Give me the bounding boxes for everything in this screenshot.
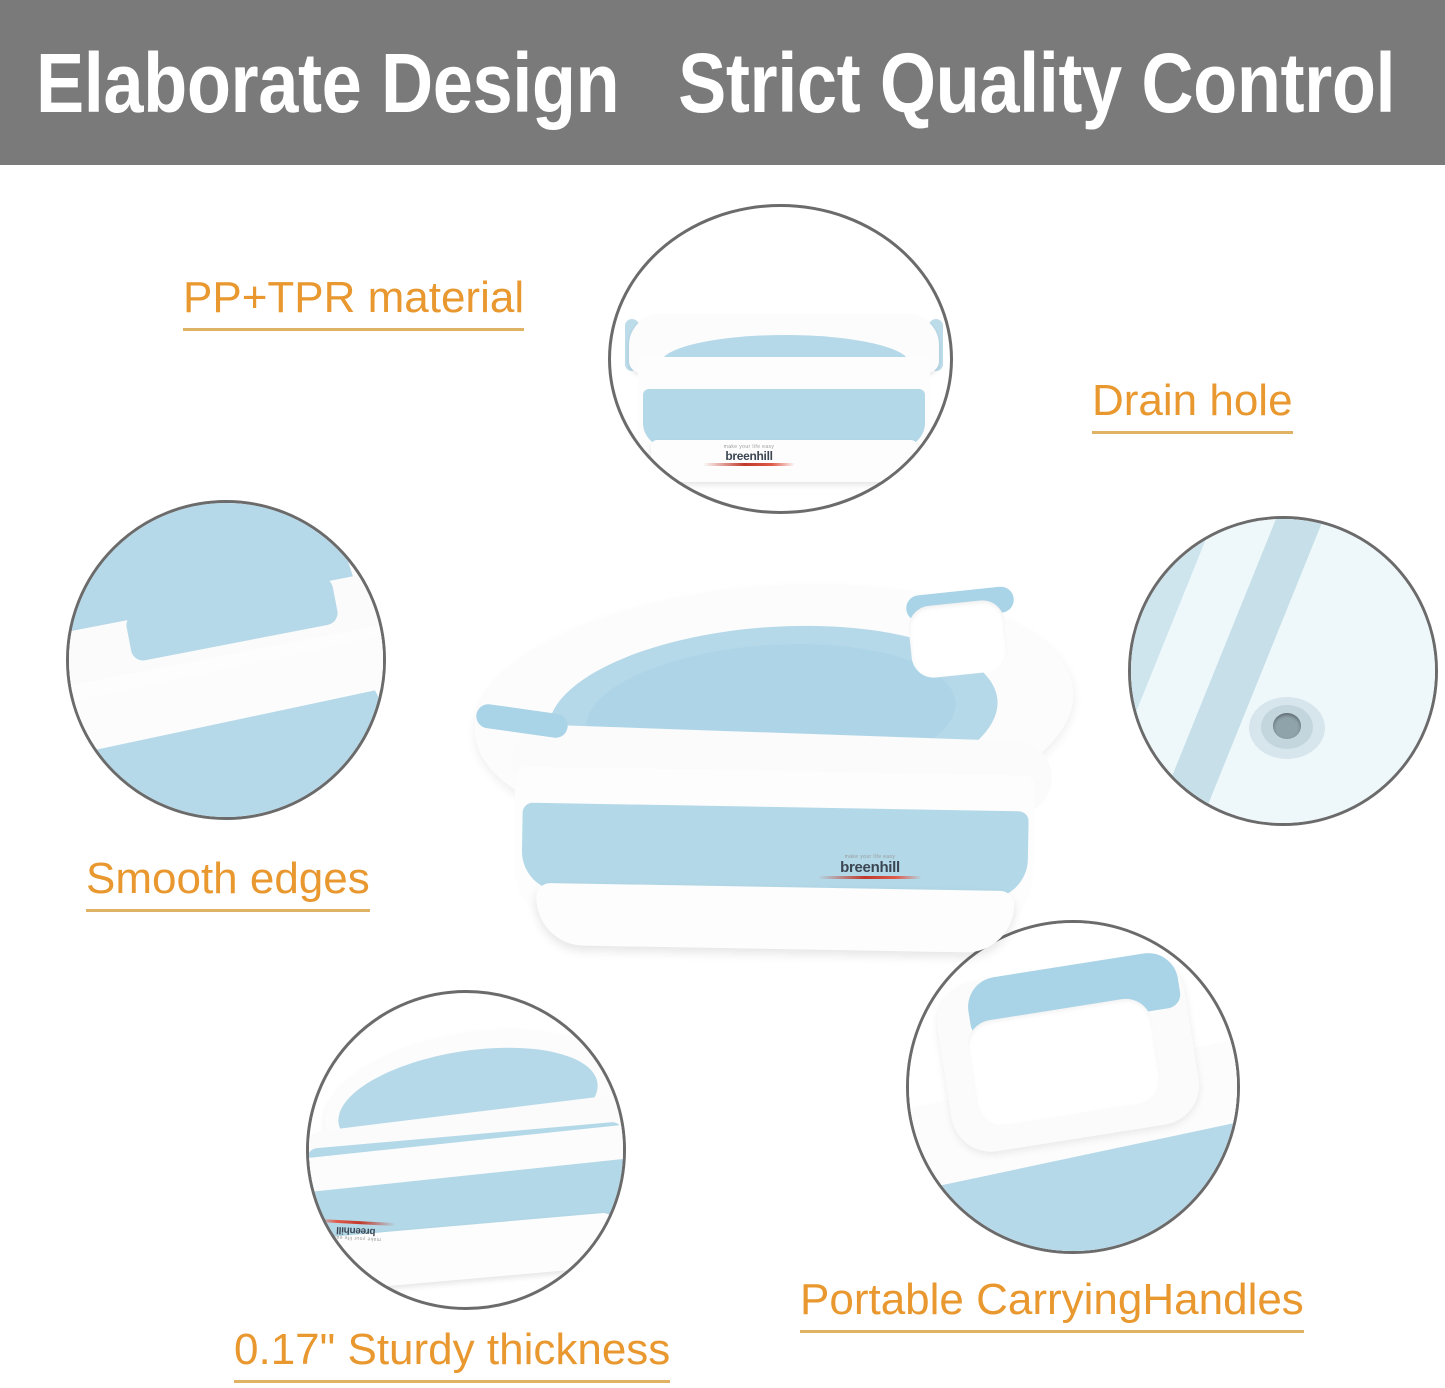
basin-blue-band bbox=[643, 389, 925, 447]
feature-label-drain: Drain hole bbox=[1092, 378, 1293, 434]
inset-material-art: make your life easy breenhill bbox=[611, 207, 950, 511]
product-handle-opening-right bbox=[906, 598, 1009, 680]
brand-swoosh-icon bbox=[818, 876, 922, 879]
drain-hole-icon bbox=[1273, 713, 1301, 739]
product-infographic-page: Elaborate Design Strict Quality Control … bbox=[0, 0, 1445, 1388]
inset-drain-art bbox=[1131, 519, 1435, 823]
product-foot bbox=[535, 883, 1014, 953]
brand-swoosh-icon bbox=[703, 463, 795, 466]
brand-name: breenhill bbox=[818, 860, 922, 875]
inset-circle-smooth-edges bbox=[66, 500, 386, 820]
inset-circle-thickness: make your life easy breenhill bbox=[306, 990, 626, 1310]
feature-label-smooth-edges: Smooth edges bbox=[86, 856, 370, 912]
inset-thickness-art: make your life easy breenhill bbox=[309, 993, 623, 1307]
feature-label-material: PP+TPR material bbox=[183, 275, 524, 331]
inset-smooth-art bbox=[69, 503, 383, 817]
feature-label-thickness: 0.17" Sturdy thickness bbox=[234, 1327, 670, 1383]
inset-circle-material: make your life easy breenhill bbox=[608, 204, 953, 514]
page-title: Elaborate Design Strict Quality Control bbox=[36, 41, 1395, 125]
feature-label-handles: Portable CarryingHandles bbox=[800, 1277, 1304, 1333]
brand-logo: make your life easy breenhill bbox=[818, 855, 922, 879]
inset-circle-drain-hole bbox=[1128, 516, 1438, 826]
header-banner: Elaborate Design Strict Quality Control bbox=[0, 0, 1445, 165]
brand-name: breenhill bbox=[703, 450, 795, 462]
brand-logo: make your life easy breenhill bbox=[317, 1219, 396, 1242]
main-product-image: make your life easy breenhill bbox=[466, 575, 1096, 975]
brand-logo: make your life easy breenhill bbox=[703, 445, 795, 466]
